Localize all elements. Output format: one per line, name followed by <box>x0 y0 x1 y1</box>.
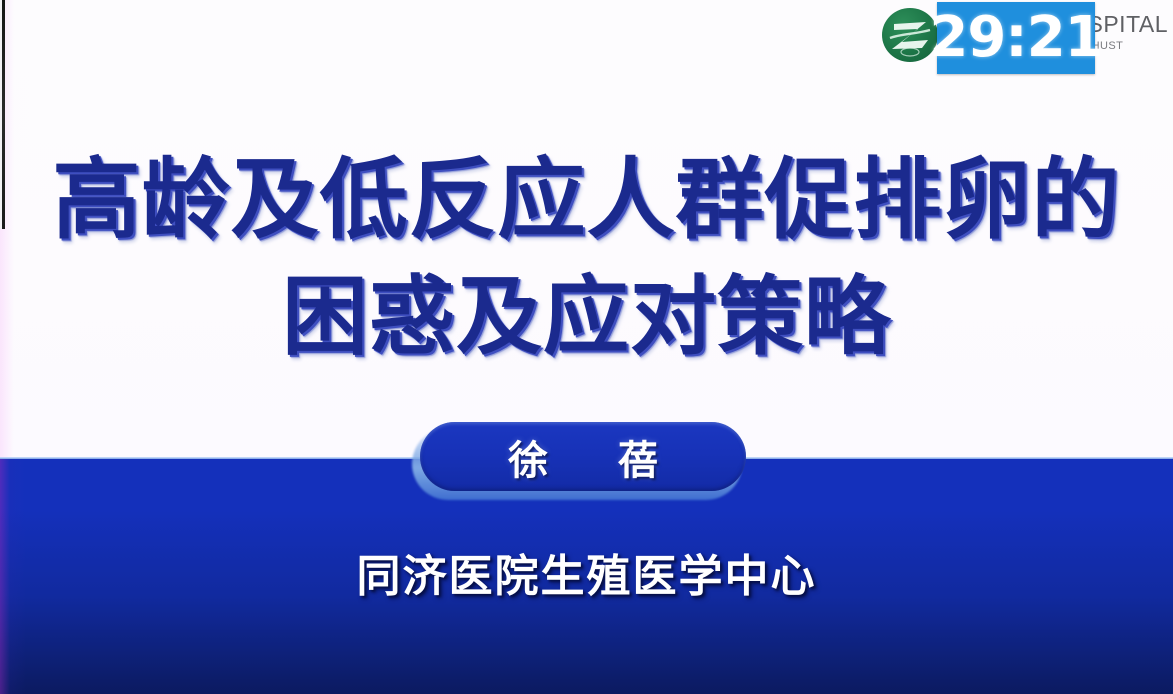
video-slide-frame: 高龄及低反应人群促排卵的 困惑及应对策略 徐 蓓 同济医院生殖医学中心 同济医院… <box>0 0 1173 694</box>
speaker-badge-pill: 徐 蓓 <box>420 422 746 491</box>
slide-title: 高龄及低反应人群促排卵的 困惑及应对策略 <box>0 140 1173 376</box>
speaker-affiliation: 同济医院生殖医学中心 <box>0 540 1173 604</box>
speaker-name-badge: 徐 蓓 <box>418 418 748 496</box>
countdown-timer-overlay: 29:21 <box>937 2 1095 74</box>
countdown-timer-value: 29:21 <box>929 10 1102 66</box>
title-line-2: 困惑及应对策略 <box>0 258 1173 376</box>
speaker-name-text: 徐 蓓 <box>494 428 672 486</box>
title-line-1: 高龄及低反应人群促排卵的 <box>0 140 1173 258</box>
